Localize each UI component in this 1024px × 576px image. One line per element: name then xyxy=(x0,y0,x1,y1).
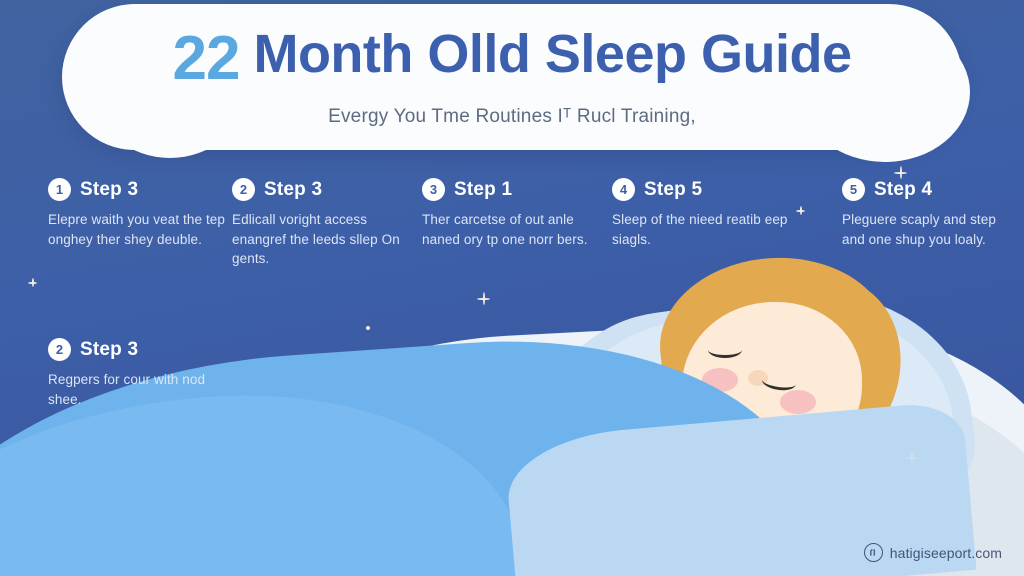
step-body-text: Pleguere scaply and step and one shup yo… xyxy=(842,210,1014,249)
step-body-text: Ther carcetse of out anle naned ory tp o… xyxy=(422,210,607,249)
step-header: 5 Step 4 xyxy=(842,178,1014,201)
age-number: 22 xyxy=(173,18,240,90)
sparkle-icon xyxy=(28,278,37,287)
step-number-badge: 1 xyxy=(48,178,71,201)
baby-eye-closed-left xyxy=(708,342,742,358)
step-header: 4 Step 5 xyxy=(612,178,797,201)
infographic-poster: 22 Month Olld Sleep Guide Evergy You Tme… xyxy=(0,0,1024,576)
sparkle-icon xyxy=(477,292,490,305)
step-card-4: 4 Step 5 Sleep of the nieed reatib eep s… xyxy=(612,178,797,249)
step-header: 2 Step 3 xyxy=(232,178,417,201)
step-number-badge: 2 xyxy=(48,338,71,361)
watermark: hatigiseeport.com xyxy=(864,543,1002,562)
watermark-site: hatigiseeport.com xyxy=(890,545,1002,561)
step-card-3: 3 Step 1 Ther carcetse of out anle naned… xyxy=(422,178,607,249)
sparkle-icon xyxy=(796,206,805,215)
step-body-text: Edlicall voright access enangref the lee… xyxy=(232,210,417,269)
step-number-badge: 5 xyxy=(842,178,865,201)
baby-cheek-left xyxy=(702,368,738,392)
sleeping-baby-illustration xyxy=(640,250,970,500)
step-body-text: Regpers for cour with nod shee. xyxy=(48,370,233,409)
baby-cheek-right xyxy=(780,390,816,414)
blanket-fold-shape xyxy=(0,381,527,576)
step-card-2: 2 Step 3 Edlicall voright access enangre… xyxy=(232,178,417,269)
step-title: Step 3 xyxy=(80,179,138,201)
step-body-text: Sleep of the nieed reatib eep siagls. xyxy=(612,210,797,249)
step-header: 2 Step 3 xyxy=(48,338,233,361)
step-title: Step 4 xyxy=(874,179,932,201)
step-header: 1 Step 3 xyxy=(48,178,233,201)
step-card-1: 1 Step 3 Elepre waith you veat the tep o… xyxy=(48,178,233,249)
sparkle-icon xyxy=(906,452,917,463)
step-title: Step 1 xyxy=(454,179,512,201)
title-row: 22 Month Olld Sleep Guide xyxy=(62,4,962,104)
step-card-5: 5 Step 4 Pleguere scaply and step and on… xyxy=(842,178,1014,249)
step-card-6: 2 Step 3 Regpers for cour with nod shee. xyxy=(48,338,233,409)
sparkle-dot-icon xyxy=(366,326,370,330)
step-header: 3 Step 1 xyxy=(422,178,607,201)
step-number-badge: 3 xyxy=(422,178,445,201)
step-title: Step 5 xyxy=(644,179,702,201)
page-title: Month Olld Sleep Guide xyxy=(253,27,851,81)
step-number-badge: 2 xyxy=(232,178,255,201)
step-title: Step 3 xyxy=(264,179,322,201)
step-title: Step 3 xyxy=(80,339,138,361)
page-subtitle: Evergy You Tme Routines Iᵀ Rucl Training… xyxy=(62,106,962,128)
step-number-badge: 4 xyxy=(612,178,635,201)
brand-logo-icon xyxy=(864,543,883,562)
step-body-text: Elepre waith you veat the tep onghey the… xyxy=(48,210,233,249)
